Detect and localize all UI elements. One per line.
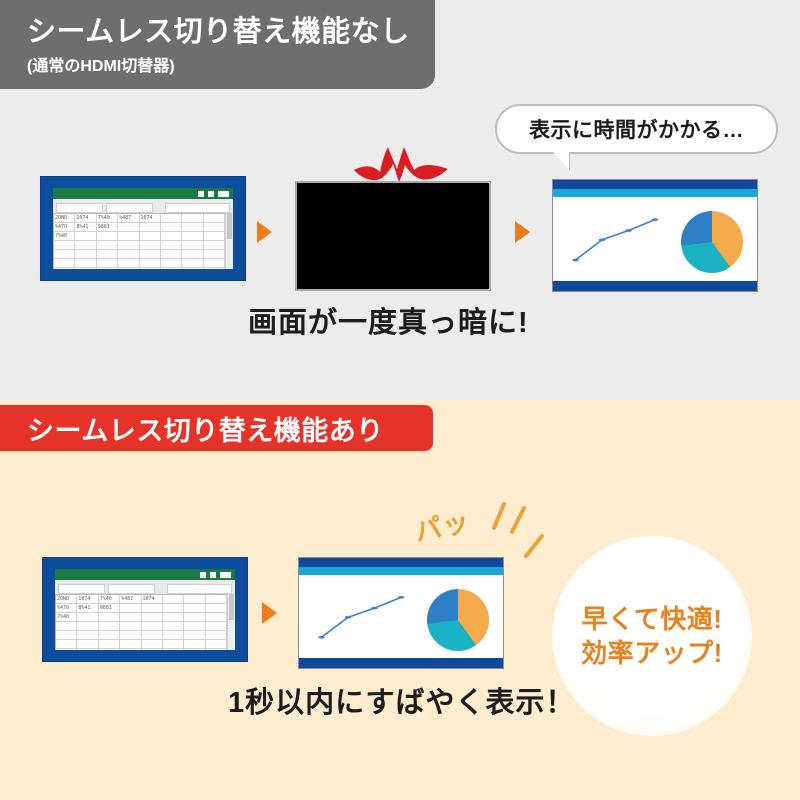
spreadsheet-cell [206,640,227,649]
banner-seamless: シームレス切り替え機能あり [0,405,433,451]
window-minimize-icon [197,190,205,198]
speech-bubble-text: 表示に時間がかかる… [529,114,744,144]
spreadsheet-cell [204,214,225,223]
banner-no-seamless-subtitle: (通常のHDMI切替器) [27,52,435,76]
spreadsheet-cell [54,259,75,268]
spreadsheet-cell: 7%40 [97,214,118,223]
spreadsheet-cell [120,622,141,631]
spreadsheet-cell [182,268,203,269]
spreadsheet-cell [77,613,98,622]
spreadsheet-cell: 1074 [142,595,163,604]
spreadsheet-cell [184,604,205,613]
spreadsheet-cell [182,259,203,268]
flow-arrow-3 [262,602,277,624]
spreadsheet-cell [184,622,205,631]
spreadsheet-cell: 1074 [75,214,96,223]
spreadsheet-cell [184,613,205,622]
spreadsheet-cell [120,649,141,650]
spreadsheet-titlebar [53,188,233,199]
spreadsheet-cell [75,241,96,250]
spreadsheet-cell [140,241,161,250]
spreadsheet-cell [75,232,96,241]
spreadsheet-grid-area: 2ONO10747%40%4871074%47O8%4198017%40 [55,594,235,650]
spreadsheet-cell: 7%40 [56,613,77,622]
toolbar-field-2 [106,203,153,213]
spreadsheet-cell [120,613,141,622]
monitor-bezel: 2ONO10747%40%4871074%47O8%4198017%40 [42,557,248,662]
window-close-icon [219,571,232,579]
toolbar-field-3 [165,203,230,213]
spreadsheet-cell [118,241,139,250]
spreadsheet-cell: 2ONO [56,595,77,604]
spreadsheet-cell [77,622,98,631]
spreadsheet-cell [75,259,96,268]
spreadsheet-cell [163,649,184,650]
spreadsheet-cell: 2ONO [54,214,75,223]
chart-screen [552,179,758,292]
spreadsheet-cell [204,232,225,241]
spreadsheet-cell [161,250,182,259]
spreadsheet-cell [77,631,98,640]
spreadsheet-cell [142,640,163,649]
spreadsheet-cell [184,631,205,640]
spreadsheet-scrollbar[interactable] [225,213,233,269]
spreadsheet-cell [56,649,77,650]
spreadsheet-cell [142,604,163,613]
spreadsheet-grid: 2ONO10747%40%4871074%47O8%4198017%40 [55,594,227,650]
toolbar-field-3 [167,584,232,594]
spreadsheet-cell [99,631,120,640]
spreadsheet-cell [140,250,161,259]
spreadsheet-cell [161,232,182,241]
flow-arrow-2 [515,221,530,243]
banner-no-seamless: シームレス切り替え機能なし (通常のHDMI切替器) [0,0,435,89]
infographic-page: シームレス切り替え機能なし (通常のHDMI切替器) 表示に時間がかかる… [0,0,800,800]
spreadsheet-cell [54,250,75,259]
window-minimize-icon [199,571,207,579]
chart-plot-area [553,197,757,281]
spreadsheet-cell: %47O [54,223,75,232]
spreadsheet-cell [120,604,141,613]
spreadsheet-cell [182,241,203,250]
spreadsheet-cell [118,259,139,268]
caption-fast-display: 1秒以内にすばやく表示！ [228,679,575,721]
spreadsheet-cell [163,595,184,604]
spreadsheet-cell [163,613,184,622]
spreadsheet-scrollbar[interactable] [227,594,235,650]
pie-chart [681,211,743,273]
chart-footer-bar [299,658,503,668]
spreadsheet-cell [206,649,227,650]
spreadsheet-cell [118,268,139,269]
chart-monitor-bottom [298,557,504,669]
spreadsheet-cell [118,250,139,259]
spreadsheet-cell: 7%40 [54,232,75,241]
highlight-circle-fast-comfortable: 早くて快適! 効率アップ! [552,536,752,736]
spreadsheet-cell [204,268,225,269]
burst-icon [352,142,450,182]
spreadsheet-cell: 1074 [77,595,98,604]
chart-header-bar-light [553,189,757,197]
spreadsheet-monitor-top: 2ONO10747%40%4871074%47O8%4198017%40 [40,176,246,281]
spreadsheet-cell: 9801 [97,223,118,232]
spreadsheet-cell [161,223,182,232]
spreadsheet-cell: 7%40 [99,595,120,604]
spreadsheet-cell: %47O [56,604,77,613]
spreadsheet-titlebar [55,569,235,580]
banner-no-seamless-title: シームレス切り替え機能なし [27,17,435,47]
speech-bubble-tail [553,152,569,170]
highlight-line-1: 早くて快適! [582,602,723,636]
spreadsheet-cell [206,622,227,631]
spreadsheet-cell [120,631,141,640]
spreadsheet-cell: 9801 [99,604,120,613]
window-close-icon [217,190,230,198]
spreadsheet-cell [97,250,118,259]
spreadsheet-cell [140,259,161,268]
spreadsheet-cell [182,250,203,259]
spreadsheet-cell [142,622,163,631]
spreadsheet-cell [163,640,184,649]
monitor-screen: 2ONO10747%40%4871074%47O8%4198017%40 [53,188,233,269]
spreadsheet-cell [184,649,205,650]
chart-header-bar-light [299,567,503,575]
flow-arrow-1 [257,221,272,243]
spreadsheet-grid-area: 2ONO10747%40%4871074%47O8%4198017%40 [53,213,233,269]
pop-effect-lines [480,498,560,568]
spreadsheet-cell [182,223,203,232]
spreadsheet-cell [140,268,161,269]
chart-plot-area [299,575,503,658]
spreadsheet-cell [140,232,161,241]
chart-footer-bar [553,281,757,291]
toolbar-field-1 [56,203,103,213]
spreadsheet-cell [97,259,118,268]
spreadsheet-cell: 8%41 [75,223,96,232]
spreadsheet-cell [97,232,118,241]
spreadsheet-grid: 2ONO10747%40%4871074%47O8%4198017%40 [53,213,225,269]
spreadsheet-cell [204,241,225,250]
spreadsheet-cell: 8%41 [77,604,98,613]
chart-header-bar-dark [553,180,757,189]
spreadsheet-cell [204,259,225,268]
spreadsheet-cell [163,622,184,631]
spreadsheet-cell [163,604,184,613]
spreadsheet-cell [163,631,184,640]
spreadsheet-cell [161,259,182,268]
spreadsheet-monitor-bottom: 2ONO10747%40%4871074%47O8%4198017%40 [42,557,248,662]
pie-chart [427,589,489,651]
toolbar-field-2 [108,584,155,594]
spreadsheet-cell [161,268,182,269]
toolbar-field-1 [58,584,105,594]
spreadsheet-cell [182,214,203,223]
spreadsheet-cell [140,223,161,232]
spreadsheet-cell [206,613,227,622]
scrollbar-thumb[interactable] [229,594,234,620]
spreadsheet-cell [204,250,225,259]
window-maximize-icon [207,190,215,198]
spreadsheet-cell [77,640,98,649]
spreadsheet-cell [54,241,75,250]
spreadsheet-cell [161,241,182,250]
chart-monitor-top [552,179,758,292]
spreadsheet-cell [56,640,77,649]
black-screen-monitor [295,181,491,291]
spreadsheet-cell [99,640,120,649]
spreadsheet-cell [99,649,120,650]
spreadsheet-cell [77,649,98,650]
spreadsheet-cell [182,232,203,241]
spreadsheet-cell [142,649,163,650]
chart-screen [298,557,504,669]
monitor-screen: 2ONO10747%40%4871074%47O8%4198017%40 [55,569,235,650]
chart-header-bar-dark [299,558,503,567]
highlight-line-2: 効率アップ! [581,636,723,670]
spreadsheet-cell [184,595,205,604]
spreadsheet-cell [184,640,205,649]
spreadsheet-cell: %487 [118,214,139,223]
spreadsheet-cell [54,268,75,269]
window-maximize-icon [209,571,217,579]
spreadsheet-cell [56,631,77,640]
spreadsheet-cell [120,640,141,649]
spreadsheet-cell [75,250,96,259]
caption-screen-goes-black: 画面が一度真っ暗に! [248,299,529,341]
spreadsheet-cell [204,223,225,232]
spreadsheet-cell [206,595,227,604]
spreadsheet-cell [56,622,77,631]
spreadsheet-cell: %487 [120,595,141,604]
spreadsheet-cell [142,631,163,640]
banner-seamless-title: シームレス切り替え機能あり [27,409,433,448]
spreadsheet-cell [99,622,120,631]
spreadsheet-cell [99,613,120,622]
spreadsheet-cell [97,241,118,250]
spreadsheet-cell: 1074 [140,214,161,223]
spreadsheet-cell [142,613,163,622]
speech-bubble-slow-display: 表示に時間がかかる… [495,104,778,154]
spreadsheet-cell [118,232,139,241]
spreadsheet-cell [206,631,227,640]
spreadsheet-cell [118,223,139,232]
monitor-bezel: 2ONO10747%40%4871074%47O8%4198017%40 [40,176,246,281]
spreadsheet-cell [161,214,182,223]
spreadsheet-cell [206,604,227,613]
spreadsheet-cell [75,268,96,269]
scrollbar-thumb[interactable] [227,213,232,239]
spreadsheet-cell [97,268,118,269]
